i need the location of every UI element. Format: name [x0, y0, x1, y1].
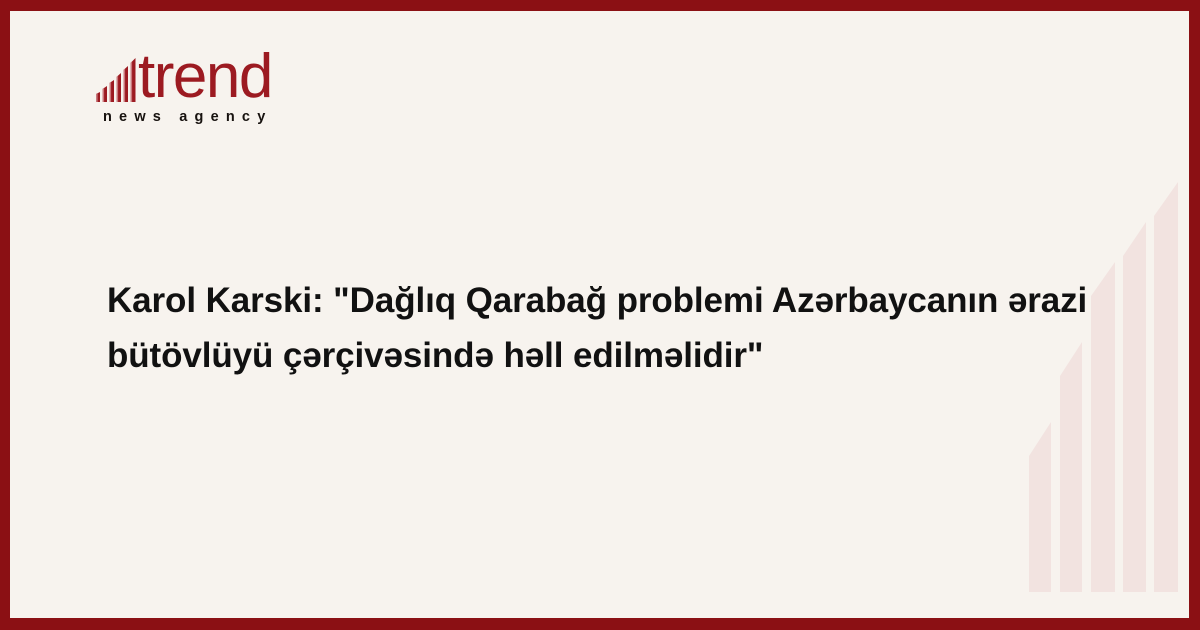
logo-tagline: news agency: [103, 109, 416, 125]
share-card: trend news agency Karol Karski: "Dağlıq …: [0, 0, 1200, 630]
decorative-bar-3: [1091, 262, 1115, 592]
logo-wordmark-text: trend: [138, 50, 272, 103]
decorative-bar-4: [1123, 222, 1146, 592]
logo-wordmark-row: trend: [96, 39, 416, 103]
headline-title: Karol Karski: "Dağlıq Qarabağ problemi A…: [107, 274, 1092, 383]
decorative-bar-5: [1154, 182, 1178, 592]
card-canvas: trend news agency Karol Karski: "Dağlıq …: [10, 11, 1189, 618]
trend-logo[interactable]: trend news agency: [96, 39, 416, 125]
decorative-bar-1: [1029, 422, 1051, 592]
trend-bars-mark-icon: [96, 52, 137, 102]
